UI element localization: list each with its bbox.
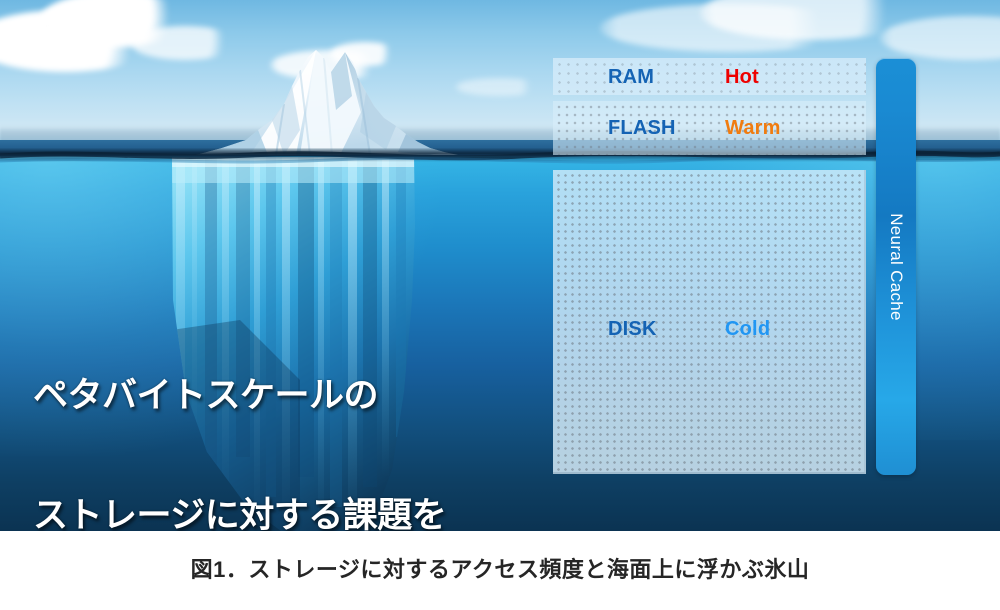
- tier-label-ram-temp: Hot: [725, 66, 759, 89]
- storage-tier-diagram: RAM Hot FLASH Warm DISK Cold: [553, 58, 866, 474]
- figure-root: ペタバイトスケールの ストレージに対する課題を ソフトウェアで解決 RAM Ho…: [0, 0, 1000, 610]
- headline: ペタバイトスケールの ストレージに対する課題を ソフトウェアで解決: [33, 296, 446, 531]
- tier-label-ram-media: RAM: [608, 66, 654, 89]
- headline-line-2: ストレージに対する課題を: [33, 496, 446, 531]
- tier-panel-flash: FLASH Warm: [553, 101, 866, 155]
- dot-matrix-pattern: [553, 101, 866, 155]
- tier-panel-ram: RAM Hot: [553, 58, 866, 95]
- tier-label-disk-temp: Cold: [725, 318, 770, 341]
- tier-label-disk-media: DISK: [608, 318, 657, 341]
- tier-label-flash-media: FLASH: [608, 117, 676, 140]
- scene-photo: ペタバイトスケールの ストレージに対する課題を ソフトウェアで解決 RAM Ho…: [0, 0, 1000, 531]
- tier-panel-disk: DISK Cold: [553, 170, 866, 474]
- tier-label-flash-temp: Warm: [725, 117, 781, 140]
- neural-cache-bar: Neural Cache: [876, 58, 916, 475]
- dot-matrix-pattern: [553, 170, 864, 472]
- neural-cache-label: Neural Cache: [886, 213, 906, 321]
- dot-matrix-pattern: [553, 58, 866, 95]
- headline-line-1: ペタバイトスケールの: [33, 376, 446, 416]
- figure-caption: 図1．ストレージに対するアクセス頻度と海面上に浮かぶ氷山: [0, 552, 1000, 584]
